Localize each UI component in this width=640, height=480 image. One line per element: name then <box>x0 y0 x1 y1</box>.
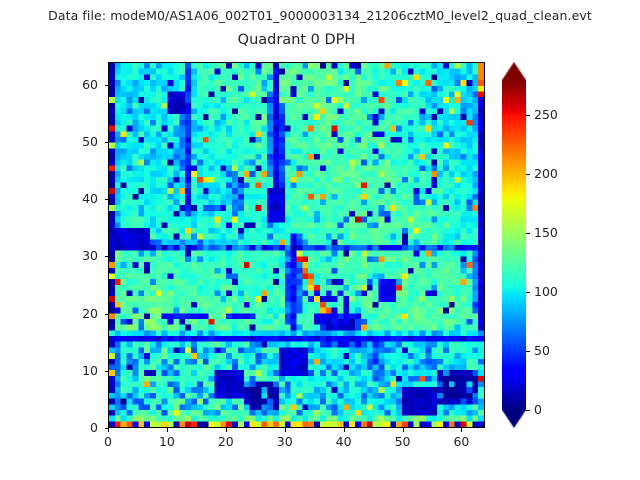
x-tick-mark <box>344 428 345 432</box>
x-tick-label: 30 <box>265 434 305 449</box>
y-tick-mark <box>105 199 109 200</box>
y-tick-label: 0 <box>58 422 98 434</box>
x-tick-mark <box>461 428 462 432</box>
y-tick-mark <box>105 428 109 429</box>
colorbar-tick-mark <box>526 174 530 175</box>
y-tick-mark <box>105 256 109 257</box>
colorbar-tick-mark <box>526 233 530 234</box>
colorbar-tick-label: 150 <box>534 227 558 239</box>
y-tick-label: 50 <box>58 136 98 148</box>
plot-title: Quadrant 0 DPH <box>108 32 485 48</box>
colorbar-tick-label: 50 <box>534 345 550 357</box>
x-tick-mark <box>167 428 168 432</box>
x-tick-mark <box>403 428 404 432</box>
x-tick-label: 40 <box>324 434 364 449</box>
y-tick-label: 60 <box>58 79 98 91</box>
x-tick-label: 20 <box>206 434 246 449</box>
x-tick-mark <box>108 428 109 432</box>
y-tick-mark <box>105 85 109 86</box>
y-tick-label: 40 <box>58 193 98 205</box>
colorbar-tick-label: 100 <box>534 286 558 298</box>
x-tick-label: 0 <box>88 434 128 449</box>
x-tick-mark <box>285 428 286 432</box>
y-tick-label: 30 <box>58 250 98 262</box>
colorbar-tick-mark <box>526 115 530 116</box>
colorbar-tick-label: 200 <box>534 168 558 180</box>
y-tick-label: 10 <box>58 365 98 377</box>
y-tick-label: 20 <box>58 308 98 320</box>
y-tick-mark <box>105 314 109 315</box>
colorbar-tick-mark <box>526 410 530 411</box>
x-tick-label: 10 <box>147 434 187 449</box>
colorbar-tick-mark <box>526 292 530 293</box>
x-tick-label: 50 <box>383 434 423 449</box>
colorbar-tick-label: 250 <box>534 109 558 121</box>
data-file-caption: Data file: modeM0/AS1A06_002T01_90000031… <box>0 8 640 23</box>
colorbar-tick-mark <box>526 351 530 352</box>
x-tick-label: 60 <box>441 434 481 449</box>
colorbar <box>502 62 526 428</box>
heatmap-axes <box>108 62 485 428</box>
colorbar-tick-label: 0 <box>534 404 542 416</box>
y-tick-mark <box>105 371 109 372</box>
figure-canvas: Data file: modeM0/AS1A06_002T01_90000031… <box>0 0 640 480</box>
y-tick-mark <box>105 142 109 143</box>
colorbar-gradient <box>502 62 526 428</box>
x-tick-mark <box>226 428 227 432</box>
heatmap-image <box>109 63 484 427</box>
